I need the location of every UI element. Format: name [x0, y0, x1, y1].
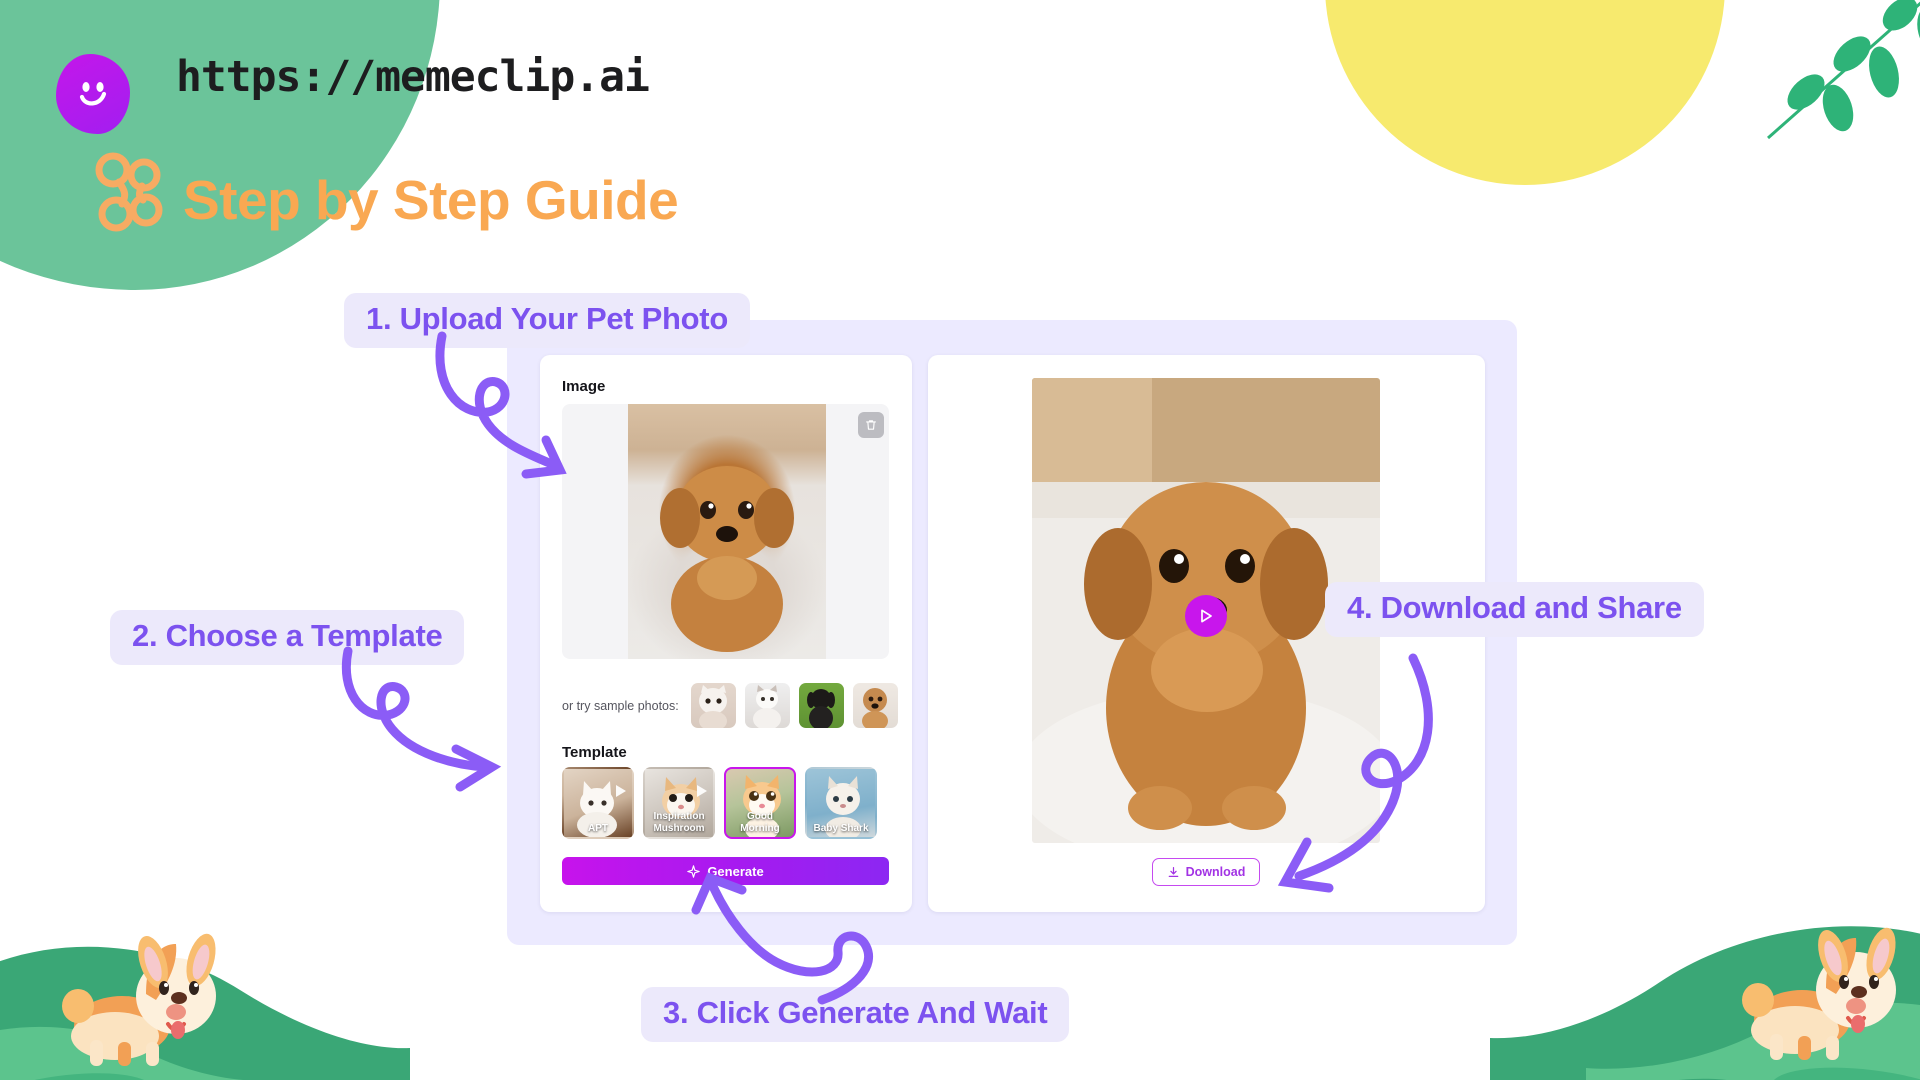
callout-step-3: 3. Click Generate And Wait	[641, 987, 1069, 1042]
template-option-baby-shark[interactable]: Baby Shark	[805, 767, 877, 839]
download-button[interactable]: Download	[1152, 858, 1260, 886]
play-icon	[616, 785, 626, 797]
generate-button-label: Generate	[707, 864, 763, 879]
uploaded-pet-photo	[628, 404, 826, 659]
black-lab-thumb	[799, 683, 844, 728]
template-section-label: Template	[562, 744, 627, 761]
template-option-apt[interactable]: APT	[562, 767, 634, 839]
sample-photo-2[interactable]	[745, 683, 790, 728]
poodle-photo-art	[632, 452, 822, 652]
bone-icon	[86, 148, 176, 238]
template-option-inspiration-mushroom[interactable]: Inspiration Mushroom	[643, 767, 715, 839]
poodle-thumb	[853, 683, 898, 728]
trash-icon	[864, 418, 878, 432]
play-icon	[1197, 607, 1215, 625]
sample-photos-caption: or try sample photos:	[562, 699, 679, 713]
corgi-illustration-bottom-left	[60, 918, 240, 1068]
image-upload-area[interactable]	[562, 404, 889, 659]
callout-step-1: 1. Upload Your Pet Photo	[344, 293, 750, 348]
download-icon	[1167, 866, 1180, 879]
image-section-label: Image	[562, 378, 605, 395]
leaf-branch-top-right	[1760, 0, 1920, 145]
sample-photo-3[interactable]	[799, 683, 844, 728]
smiley-face-icon	[71, 72, 115, 116]
callout-step-4: 4. Download and Share	[1325, 582, 1704, 637]
green-blob-top-left	[0, 0, 440, 290]
template-carousel[interactable]: APT Inspiration Mushroom	[562, 767, 892, 839]
green-foliage-bottom-right	[1490, 900, 1920, 1080]
template-option-good-morning[interactable]: Good Morning	[724, 767, 796, 839]
guide-poster: https://memeclip.ai Step by Step Guide I…	[0, 0, 1920, 1080]
play-icon	[697, 785, 707, 797]
corgi-illustration-bottom-right	[1740, 912, 1920, 1062]
delete-image-button[interactable]	[858, 412, 884, 438]
ragdoll-cat-thumb	[745, 683, 790, 728]
download-button-label: Download	[1186, 865, 1246, 879]
white-cat-thumb	[691, 683, 736, 728]
page-title: Step by Step Guide	[183, 168, 678, 232]
callout-step-2: 2. Choose a Template	[110, 610, 464, 665]
template-label-2: Good Morning	[726, 811, 794, 834]
green-foliage-bottom-left	[0, 920, 410, 1080]
yellow-circle-top-right	[1325, 0, 1725, 185]
generate-button[interactable]: Generate	[562, 857, 889, 885]
template-label-3: Baby Shark	[807, 823, 875, 835]
play-video-button[interactable]	[1185, 595, 1227, 637]
site-url: https://memeclip.ai	[176, 52, 649, 102]
sample-photos-row: or try sample photos:	[562, 683, 898, 728]
sample-photo-1[interactable]	[691, 683, 736, 728]
template-label-1: Inspiration Mushroom	[645, 811, 713, 834]
memeclip-logo[interactable]	[56, 54, 130, 134]
sample-photo-4[interactable]	[853, 683, 898, 728]
template-label-0: APT	[564, 823, 632, 835]
sparkle-icon	[687, 865, 700, 878]
